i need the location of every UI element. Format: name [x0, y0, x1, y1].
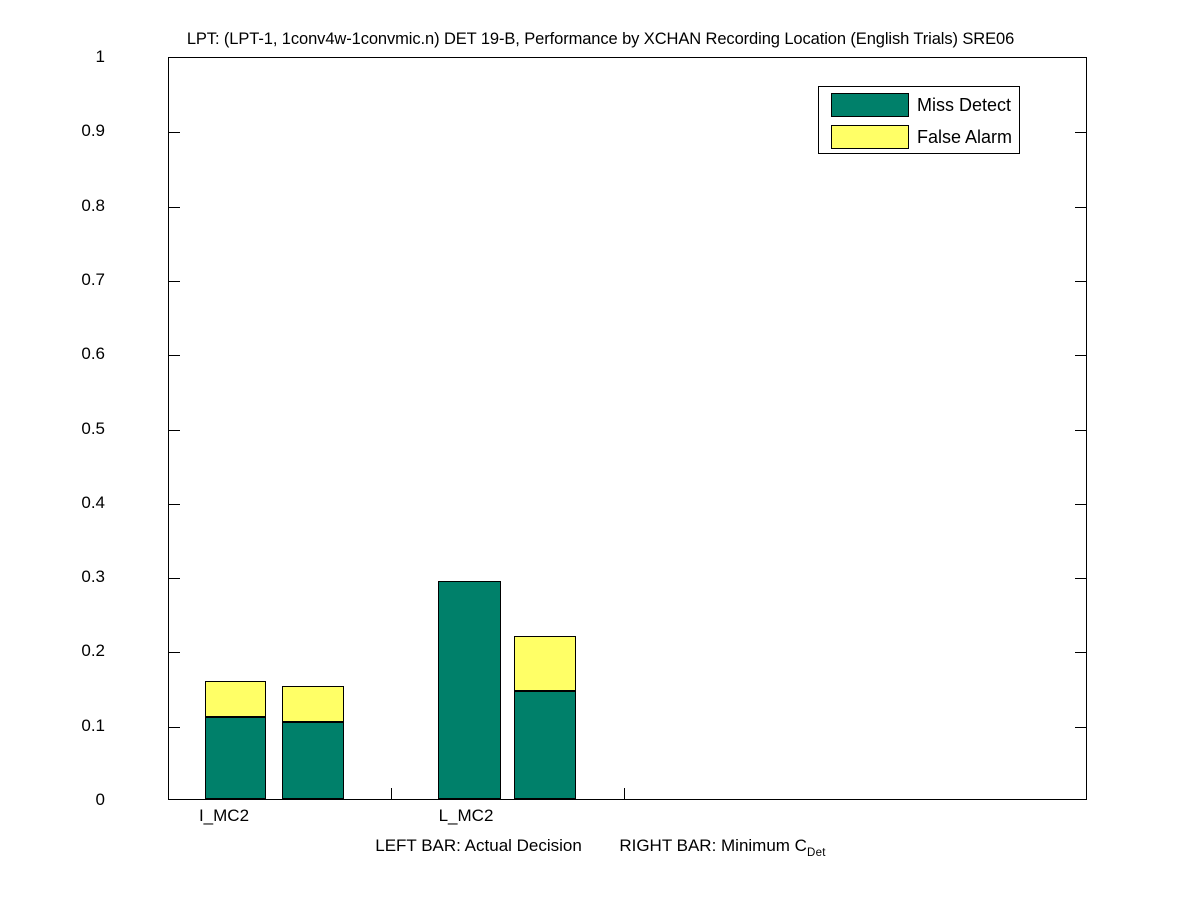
y-axis-tick-label: 0.2 [49, 642, 105, 659]
y-axis-tick [169, 355, 180, 356]
bar-segment-false-alarm[interactable] [282, 686, 344, 722]
plot-area [168, 57, 1087, 800]
bar-i_mc2-min[interactable] [282, 686, 344, 799]
footer-right-note: RIGHT BAR: Minimum CDet [619, 836, 825, 855]
y-axis-tick-right [1075, 578, 1086, 579]
y-axis-tick-right [1075, 281, 1086, 282]
x-axis-tick [624, 788, 625, 799]
x-axis-tick-label: L_MC2 [406, 806, 526, 825]
y-axis-tick-label: 0.1 [49, 717, 105, 734]
bar-segment-false-alarm[interactable] [205, 681, 266, 717]
y-axis-tick-label: 0.4 [49, 494, 105, 511]
bar-segment-miss-detect[interactable] [514, 691, 576, 799]
y-axis-tick-right [1075, 652, 1086, 653]
x-axis-tick [391, 788, 392, 799]
page-title: LPT: (LPT-1, 1conv4w-1convmic.n) DET 19-… [0, 30, 1201, 49]
y-axis-tick-right [1075, 504, 1086, 505]
y-axis-tick-label: 1 [49, 48, 105, 65]
legend-swatch-false-alarm [831, 125, 909, 149]
y-axis-tick [169, 578, 180, 579]
y-axis-tick [169, 504, 180, 505]
y-axis-tick-right [1075, 727, 1086, 728]
legend: Miss Detect False Alarm [818, 86, 1020, 154]
y-axis-tick-label: 0 [49, 791, 105, 808]
bar-segment-miss-detect[interactable] [282, 722, 344, 799]
y-axis-tick-label: 0.5 [49, 420, 105, 437]
bar-i_mc2-actual[interactable] [205, 681, 266, 799]
y-axis-tick-label: 0.7 [49, 271, 105, 288]
y-axis-tick-label: 0.9 [49, 122, 105, 139]
legend-label-miss-detect: Miss Detect [917, 93, 1011, 117]
legend-label-false-alarm: False Alarm [917, 125, 1012, 149]
y-axis-tick [169, 281, 180, 282]
footer-right-note-subscript: Det [807, 847, 826, 859]
y-axis-tick [169, 132, 180, 133]
legend-item-false-alarm[interactable]: False Alarm [819, 122, 1019, 150]
bar-segment-miss-detect[interactable] [205, 717, 266, 799]
footer-right-note-main: RIGHT BAR: Minimum C [619, 836, 807, 855]
bar-l_mc2-min[interactable] [514, 636, 576, 799]
figure-canvas: LPT: (LPT-1, 1conv4w-1convmic.n) DET 19-… [0, 0, 1201, 900]
y-axis-tick-label: 0.6 [49, 345, 105, 362]
bar-l_mc2-actual[interactable] [438, 581, 501, 799]
legend-swatch-miss-detect [831, 93, 909, 117]
y-axis-tick-right [1075, 132, 1086, 133]
y-axis-tick-label: 0.8 [49, 197, 105, 214]
y-axis-tick-right [1075, 430, 1086, 431]
x-axis-tick-label: I_MC2 [164, 806, 284, 825]
y-axis-tick-right [1075, 207, 1086, 208]
y-axis-tick [169, 207, 180, 208]
bar-segment-miss-detect[interactable] [438, 581, 501, 799]
y-axis-tick-label: 0.3 [49, 568, 105, 585]
y-axis-tick-right [1075, 355, 1086, 356]
y-axis-tick [169, 727, 180, 728]
y-axis-tick [169, 430, 180, 431]
footer-left-note: LEFT BAR: Actual Decision [375, 836, 582, 855]
legend-item-miss-detect[interactable]: Miss Detect [819, 90, 1019, 118]
bar-segment-false-alarm[interactable] [514, 636, 576, 692]
footer-caption: LEFT BAR: Actual Decision RIGHT BAR: Min… [0, 836, 1201, 856]
plot-inner [169, 58, 1086, 799]
y-axis-tick [169, 652, 180, 653]
